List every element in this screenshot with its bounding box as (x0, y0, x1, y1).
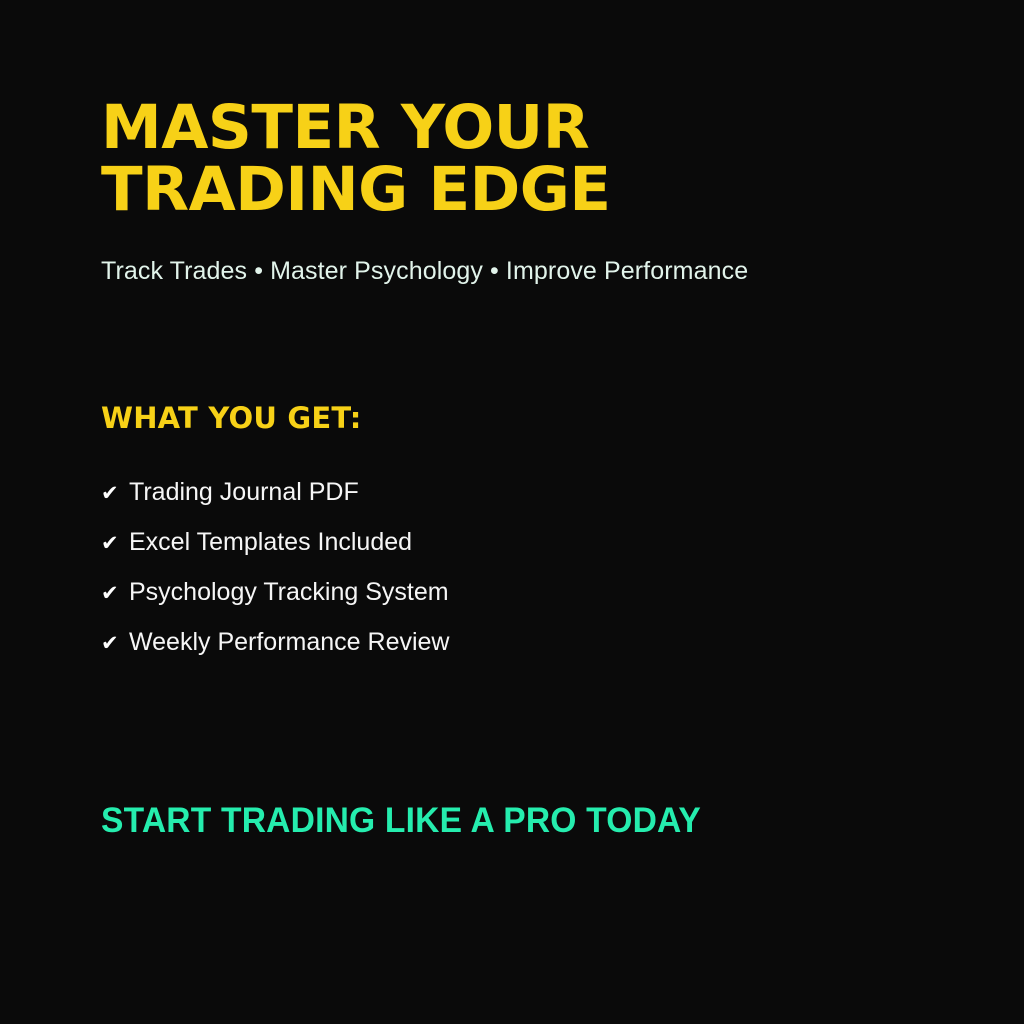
list-item: ✔ Psychology Tracking System (101, 578, 961, 628)
list-item: ✔ Trading Journal PDF (101, 478, 961, 528)
hero-section: MASTER YOUR TRADING EDGE Track Trades • … (101, 97, 961, 286)
check-icon: ✔ (101, 479, 129, 508)
offer-section: WHAT YOU GET: ✔ Trading Journal PDF ✔ Ex… (101, 400, 961, 678)
page-title: MASTER YOUR TRADING EDGE (101, 97, 961, 221)
list-item-label: Weekly Performance Review (129, 628, 449, 657)
benefits-list: ✔ Trading Journal PDF ✔ Excel Templates … (101, 436, 961, 678)
list-item: ✔ Excel Templates Included (101, 528, 961, 578)
check-icon: ✔ (101, 529, 129, 558)
promo-poster: MASTER YOUR TRADING EDGE Track Trades • … (0, 0, 1024, 1024)
list-item-label: Psychology Tracking System (129, 578, 449, 607)
list-item-label: Excel Templates Included (129, 528, 412, 557)
check-icon: ✔ (101, 579, 129, 608)
offer-heading: WHAT YOU GET: (101, 400, 961, 436)
cta-section: START TRADING LIKE A PRO TODAY (101, 800, 961, 842)
list-item: ✔ Weekly Performance Review (101, 628, 961, 678)
list-item-label: Trading Journal PDF (129, 478, 359, 507)
check-icon: ✔ (101, 629, 129, 658)
hero-subtitle: Track Trades • Master Psychology • Impro… (101, 221, 961, 286)
cta-text: START TRADING LIKE A PRO TODAY (101, 800, 927, 842)
